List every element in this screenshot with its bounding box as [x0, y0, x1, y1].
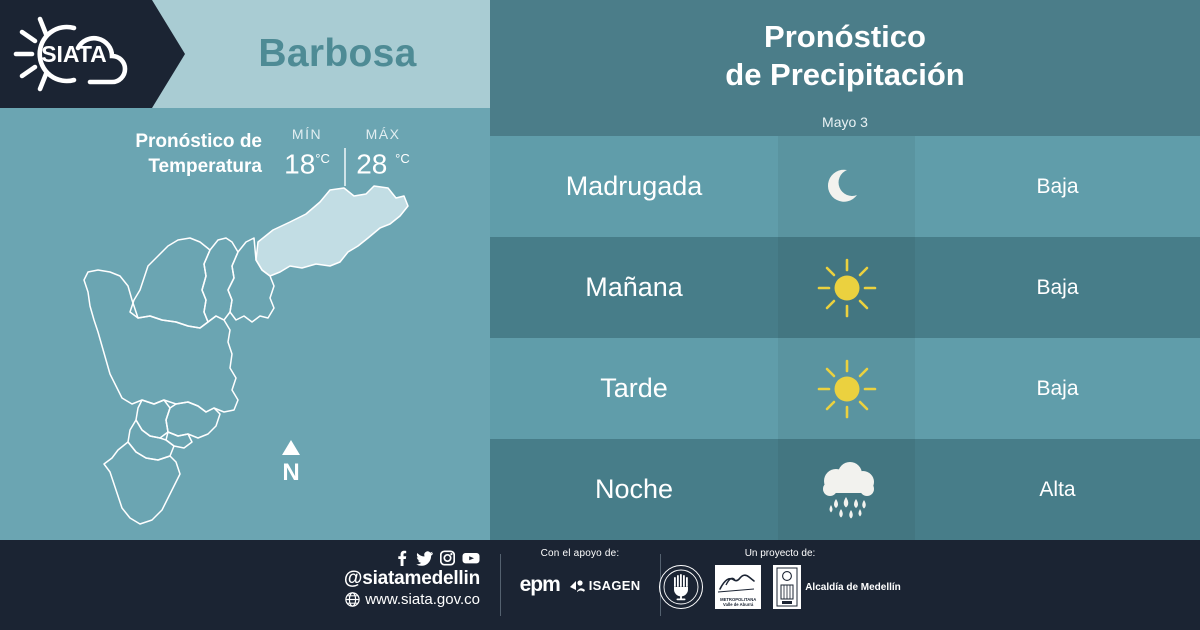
- temperature-min-unit: °C: [315, 151, 330, 166]
- map-region-itagui: [136, 400, 170, 438]
- social-icons: [300, 550, 480, 566]
- temperature-title: Pronóstico de Temperatura: [86, 129, 262, 179]
- siata-logo-text: SIATA: [41, 41, 107, 67]
- area-caption: METROPOLITANA Valle de Aburrá: [715, 597, 761, 607]
- map-region-caldas: [104, 442, 180, 524]
- website-url: www.siata.gov.co: [365, 590, 480, 609]
- support-block: Con el apoyo de: epm ISAGEN: [505, 548, 655, 597]
- north-arrow-icon: N: [277, 438, 305, 484]
- temperature-max-unit: °C: [395, 151, 410, 166]
- map-region-envigado: [166, 402, 220, 438]
- temperature-max: MÁX 28 °C: [352, 126, 414, 179]
- isagen-logo: ISAGEN: [589, 578, 641, 593]
- period-label: Tarde: [490, 338, 778, 439]
- precipitation-panel: Pronóstico de Precipitación Mayo 3 Madru…: [490, 0, 1200, 540]
- page-title: Barbosa: [185, 0, 490, 108]
- siata-logo-wedge: SIATA: [0, 0, 185, 108]
- alcaldia-logo-wrap: Alcaldía de Medellín: [773, 565, 901, 609]
- footer-divider: [500, 554, 501, 616]
- period-label: Mañana: [490, 237, 778, 338]
- precipitation-title-line1: Pronóstico: [764, 18, 926, 56]
- temperature-max-value: 28: [356, 148, 387, 179]
- table-row: Mañana: [490, 237, 1200, 338]
- precipitation-level: Alta: [915, 439, 1200, 540]
- area-caption-line2: Valle de Aburrá: [715, 602, 761, 607]
- alcaldia-label: Alcaldía de Medellín: [805, 582, 901, 593]
- forecast-table: Madrugada Baja Mañana: [490, 136, 1200, 540]
- temperature-min-value-wrap: 18°C: [276, 144, 338, 179]
- epm-logo: epm: [520, 573, 560, 597]
- support-logos: epm ISAGEN: [505, 573, 655, 597]
- map-region-bello: [130, 238, 210, 328]
- temperature-title-line1: Pronóstico de: [86, 129, 262, 154]
- temperature-min-label: MÍN: [276, 126, 338, 142]
- alcaldia-crest-logo: [773, 565, 801, 609]
- forecast-date: Mayo 3: [490, 108, 1200, 136]
- precipitation-title: Pronóstico de Precipitación: [490, 8, 1200, 104]
- youtube-icon[interactable]: [462, 550, 480, 566]
- twitter-icon[interactable]: [416, 550, 433, 566]
- north-label: N: [282, 459, 299, 484]
- globe-icon: [345, 592, 360, 607]
- website-row[interactable]: www.siata.gov.co: [300, 590, 480, 609]
- sun-icon: [778, 237, 915, 338]
- temperature-title-line2: Temperatura: [86, 154, 262, 179]
- city-header-band: SIATA Barbosa: [0, 0, 490, 108]
- table-row: Tarde: [490, 338, 1200, 439]
- udea-seal-logo: [659, 565, 703, 609]
- temperature-max-label: MÁX: [352, 126, 414, 142]
- isagen-mark-icon: [569, 578, 586, 593]
- table-row: Madrugada Baja: [490, 136, 1200, 237]
- period-label: Noche: [490, 439, 778, 540]
- map-region-sabaneta: [166, 432, 192, 448]
- precipitation-title-line2: de Precipitación: [725, 56, 964, 94]
- temperature-max-value-wrap: 28 °C: [352, 144, 414, 179]
- map-region-barbosa: [256, 186, 408, 276]
- area-metropolitana-logo: METROPOLITANA Valle de Aburrá: [715, 565, 761, 609]
- precipitation-level: Baja: [915, 237, 1200, 338]
- temperature-values: MÍN 18°C MÁX 28 °C: [276, 126, 416, 188]
- sun-icon: [778, 338, 915, 439]
- support-caption: Con el apoyo de:: [505, 548, 655, 559]
- temperature-min: MÍN 18°C: [276, 126, 338, 179]
- sun-cloud-icon: SIATA: [12, 12, 142, 96]
- table-row: Noche: [490, 439, 1200, 540]
- facebook-icon[interactable]: [394, 550, 409, 566]
- map-region-copacabana: [202, 238, 238, 322]
- project-caption: Un proyecto de:: [665, 548, 895, 559]
- footer: @siatamedellin www.siata.gov.co Con el a…: [0, 540, 1200, 630]
- rain-cloud-icon: [778, 439, 915, 540]
- moon-icon: [778, 136, 915, 237]
- precipitation-level: Baja: [915, 338, 1200, 439]
- aburra-valley-map: [58, 180, 438, 530]
- social-block: @siatamedellin www.siata.gov.co: [300, 550, 480, 609]
- period-label: Madrugada: [490, 136, 778, 237]
- project-logos: METROPOLITANA Valle de Aburrá: [665, 565, 895, 609]
- instagram-icon[interactable]: [440, 550, 455, 566]
- left-panel: SIATA Barbosa Pronóstico de Temperatura …: [0, 0, 490, 540]
- temperature-min-value: 18: [284, 148, 315, 179]
- weather-forecast-card: SIATA Barbosa Pronóstico de Temperatura …: [0, 0, 1200, 630]
- map-area: Pronóstico de Temperatura MÍN 18°C MÁX: [0, 108, 490, 540]
- project-block: Un proyecto de:: [665, 548, 895, 609]
- social-handle[interactable]: @siatamedellin: [300, 568, 480, 590]
- precipitation-level: Baja: [915, 136, 1200, 237]
- map-region-medellin: [84, 270, 238, 412]
